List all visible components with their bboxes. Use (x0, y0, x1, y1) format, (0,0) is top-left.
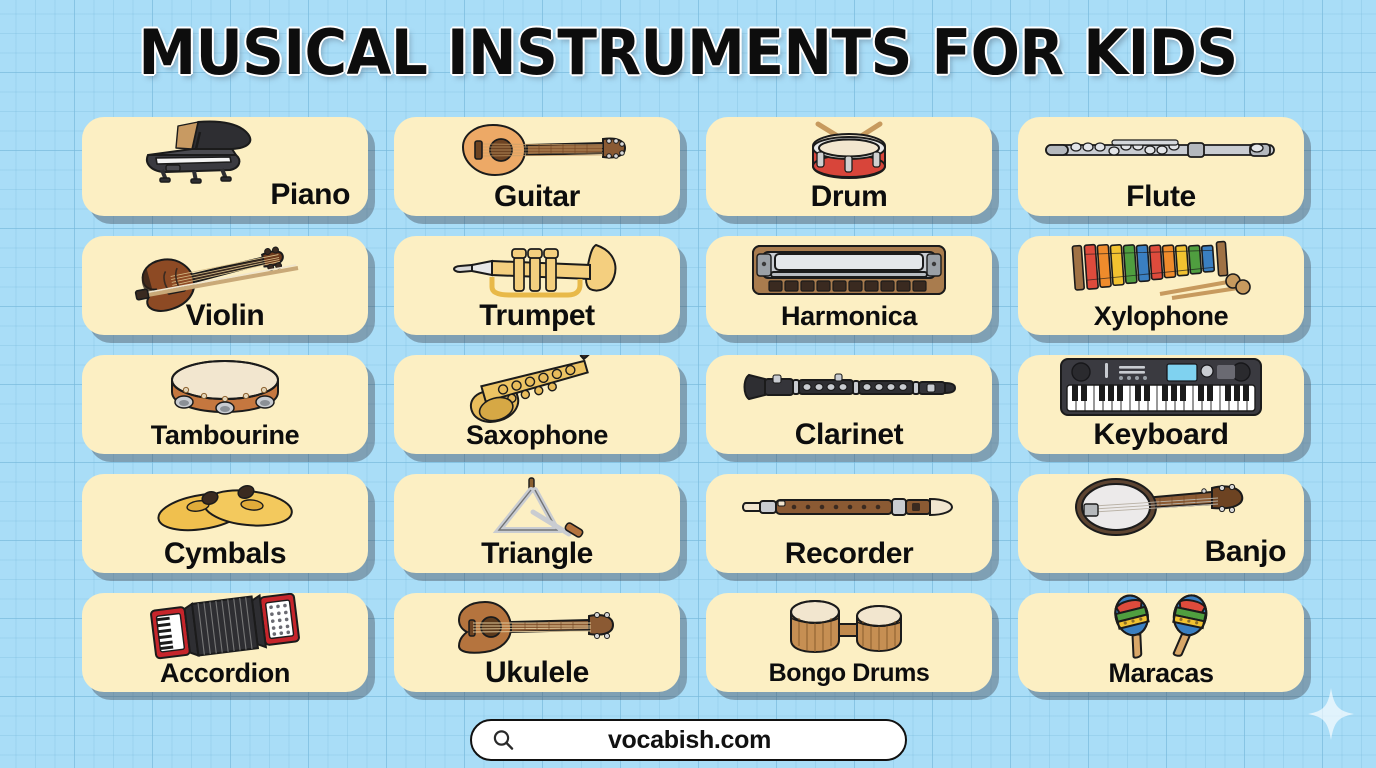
instrument-label: Triangle (394, 537, 680, 571)
instrument-card-keyboard[interactable]: Keyboard (1018, 355, 1304, 454)
bongo-drums-icon (706, 595, 992, 657)
instrument-label: Cymbals (82, 537, 368, 571)
banjo-icon (1018, 476, 1304, 538)
site-url: vocabish.com (514, 726, 865, 755)
instrument-card-bongo-drums[interactable]: Bongo Drums (706, 593, 992, 692)
search-icon (492, 729, 514, 751)
instrument-card-clarinet[interactable]: Clarinet (706, 355, 992, 454)
instrument-card-piano[interactable]: Piano (82, 117, 368, 216)
instrument-card-triangle[interactable]: Triangle (394, 474, 680, 573)
instrument-card-guitar[interactable]: Guitar (394, 117, 680, 216)
recorder-icon (706, 476, 992, 538)
instrument-label: Ukulele (394, 656, 680, 690)
instrument-grid: Piano (82, 117, 1304, 692)
instrument-label: Saxophone (394, 418, 680, 452)
instrument-card-tambourine[interactable]: Tambourine (82, 355, 368, 454)
instrument-label: Harmonica (706, 299, 992, 333)
drum-icon (706, 119, 992, 181)
instrument-label: Guitar (394, 180, 680, 214)
instrument-label: Flute (1018, 180, 1304, 214)
instrument-card-recorder[interactable]: Recorder (706, 474, 992, 573)
instrument-card-ukulele[interactable]: Ukulele (394, 593, 680, 692)
instrument-card-xylophone[interactable]: Xylophone (1018, 236, 1304, 335)
maracas-icon (1018, 595, 1304, 657)
clarinet-icon (706, 357, 992, 419)
instrument-label: Piano (82, 178, 368, 212)
page-title: MUSICAL INSTRUMENTS FOR KIDS (0, 16, 1376, 89)
accordion-icon (82, 595, 368, 657)
instrument-label: Keyboard (1018, 418, 1304, 452)
trumpet-icon (394, 238, 680, 300)
instrument-card-accordion[interactable]: Accordion (82, 593, 368, 692)
xylophone-icon (1018, 238, 1304, 300)
instrument-label: Trumpet (394, 299, 680, 333)
triangle-icon (394, 476, 680, 538)
instrument-label: Accordion (82, 656, 368, 690)
instrument-label: Banjo (1018, 535, 1304, 569)
saxophone-icon (394, 357, 680, 419)
sparkle-icon (1308, 688, 1354, 740)
flute-icon (1018, 119, 1304, 181)
instrument-card-banjo[interactable]: Banjo (1018, 474, 1304, 573)
instrument-card-harmonica[interactable]: Harmonica (706, 236, 992, 335)
instrument-card-maracas[interactable]: Maracas (1018, 593, 1304, 692)
instrument-label: Drum (706, 180, 992, 214)
harmonica-icon (706, 238, 992, 300)
instrument-label: Recorder (706, 537, 992, 571)
instrument-label: Xylophone (1018, 299, 1304, 333)
footer-site-pill[interactable]: vocabish.com (470, 719, 907, 761)
instrument-label: Violin (82, 299, 368, 333)
instrument-card-trumpet[interactable]: Trumpet (394, 236, 680, 335)
guitar-icon (394, 119, 680, 181)
keyboard-icon (1018, 357, 1304, 419)
instrument-label: Bongo Drums (706, 656, 992, 690)
instrument-card-saxophone[interactable]: Saxophone (394, 355, 680, 454)
cymbals-icon (82, 476, 368, 538)
instrument-label: Clarinet (706, 418, 992, 452)
violin-icon (82, 238, 368, 300)
piano-icon (82, 119, 368, 181)
instrument-card-flute[interactable]: Flute (1018, 117, 1304, 216)
ukulele-icon (394, 595, 680, 657)
instrument-card-cymbals[interactable]: Cymbals (82, 474, 368, 573)
instrument-label: Maracas (1018, 656, 1304, 690)
instrument-label: Tambourine (82, 418, 368, 452)
tambourine-icon (82, 357, 368, 419)
instrument-card-drum[interactable]: Drum (706, 117, 992, 216)
infographic-page: MUSICAL INSTRUMENTS FOR KIDS (0, 0, 1376, 768)
instrument-card-violin[interactable]: Violin (82, 236, 368, 335)
